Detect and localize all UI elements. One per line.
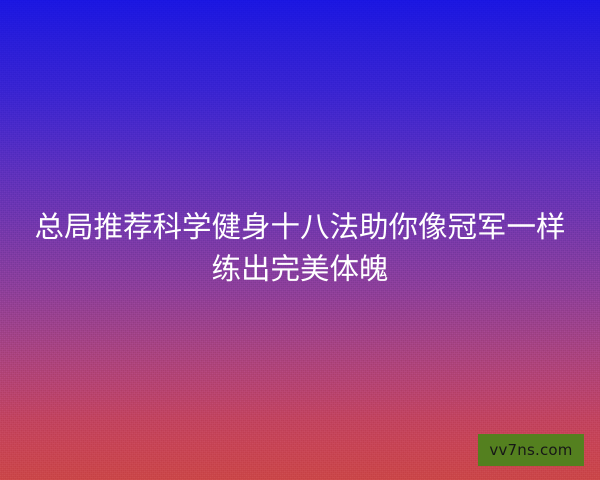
watermark-badge: vv7ns.com <box>478 434 584 466</box>
cover-image: 总局推荐科学健身十八法助你像冠军一样练出完美体魄 vv7ns.com <box>0 0 600 480</box>
page-title: 总局推荐科学健身十八法助你像冠军一样练出完美体魄 <box>0 206 600 290</box>
